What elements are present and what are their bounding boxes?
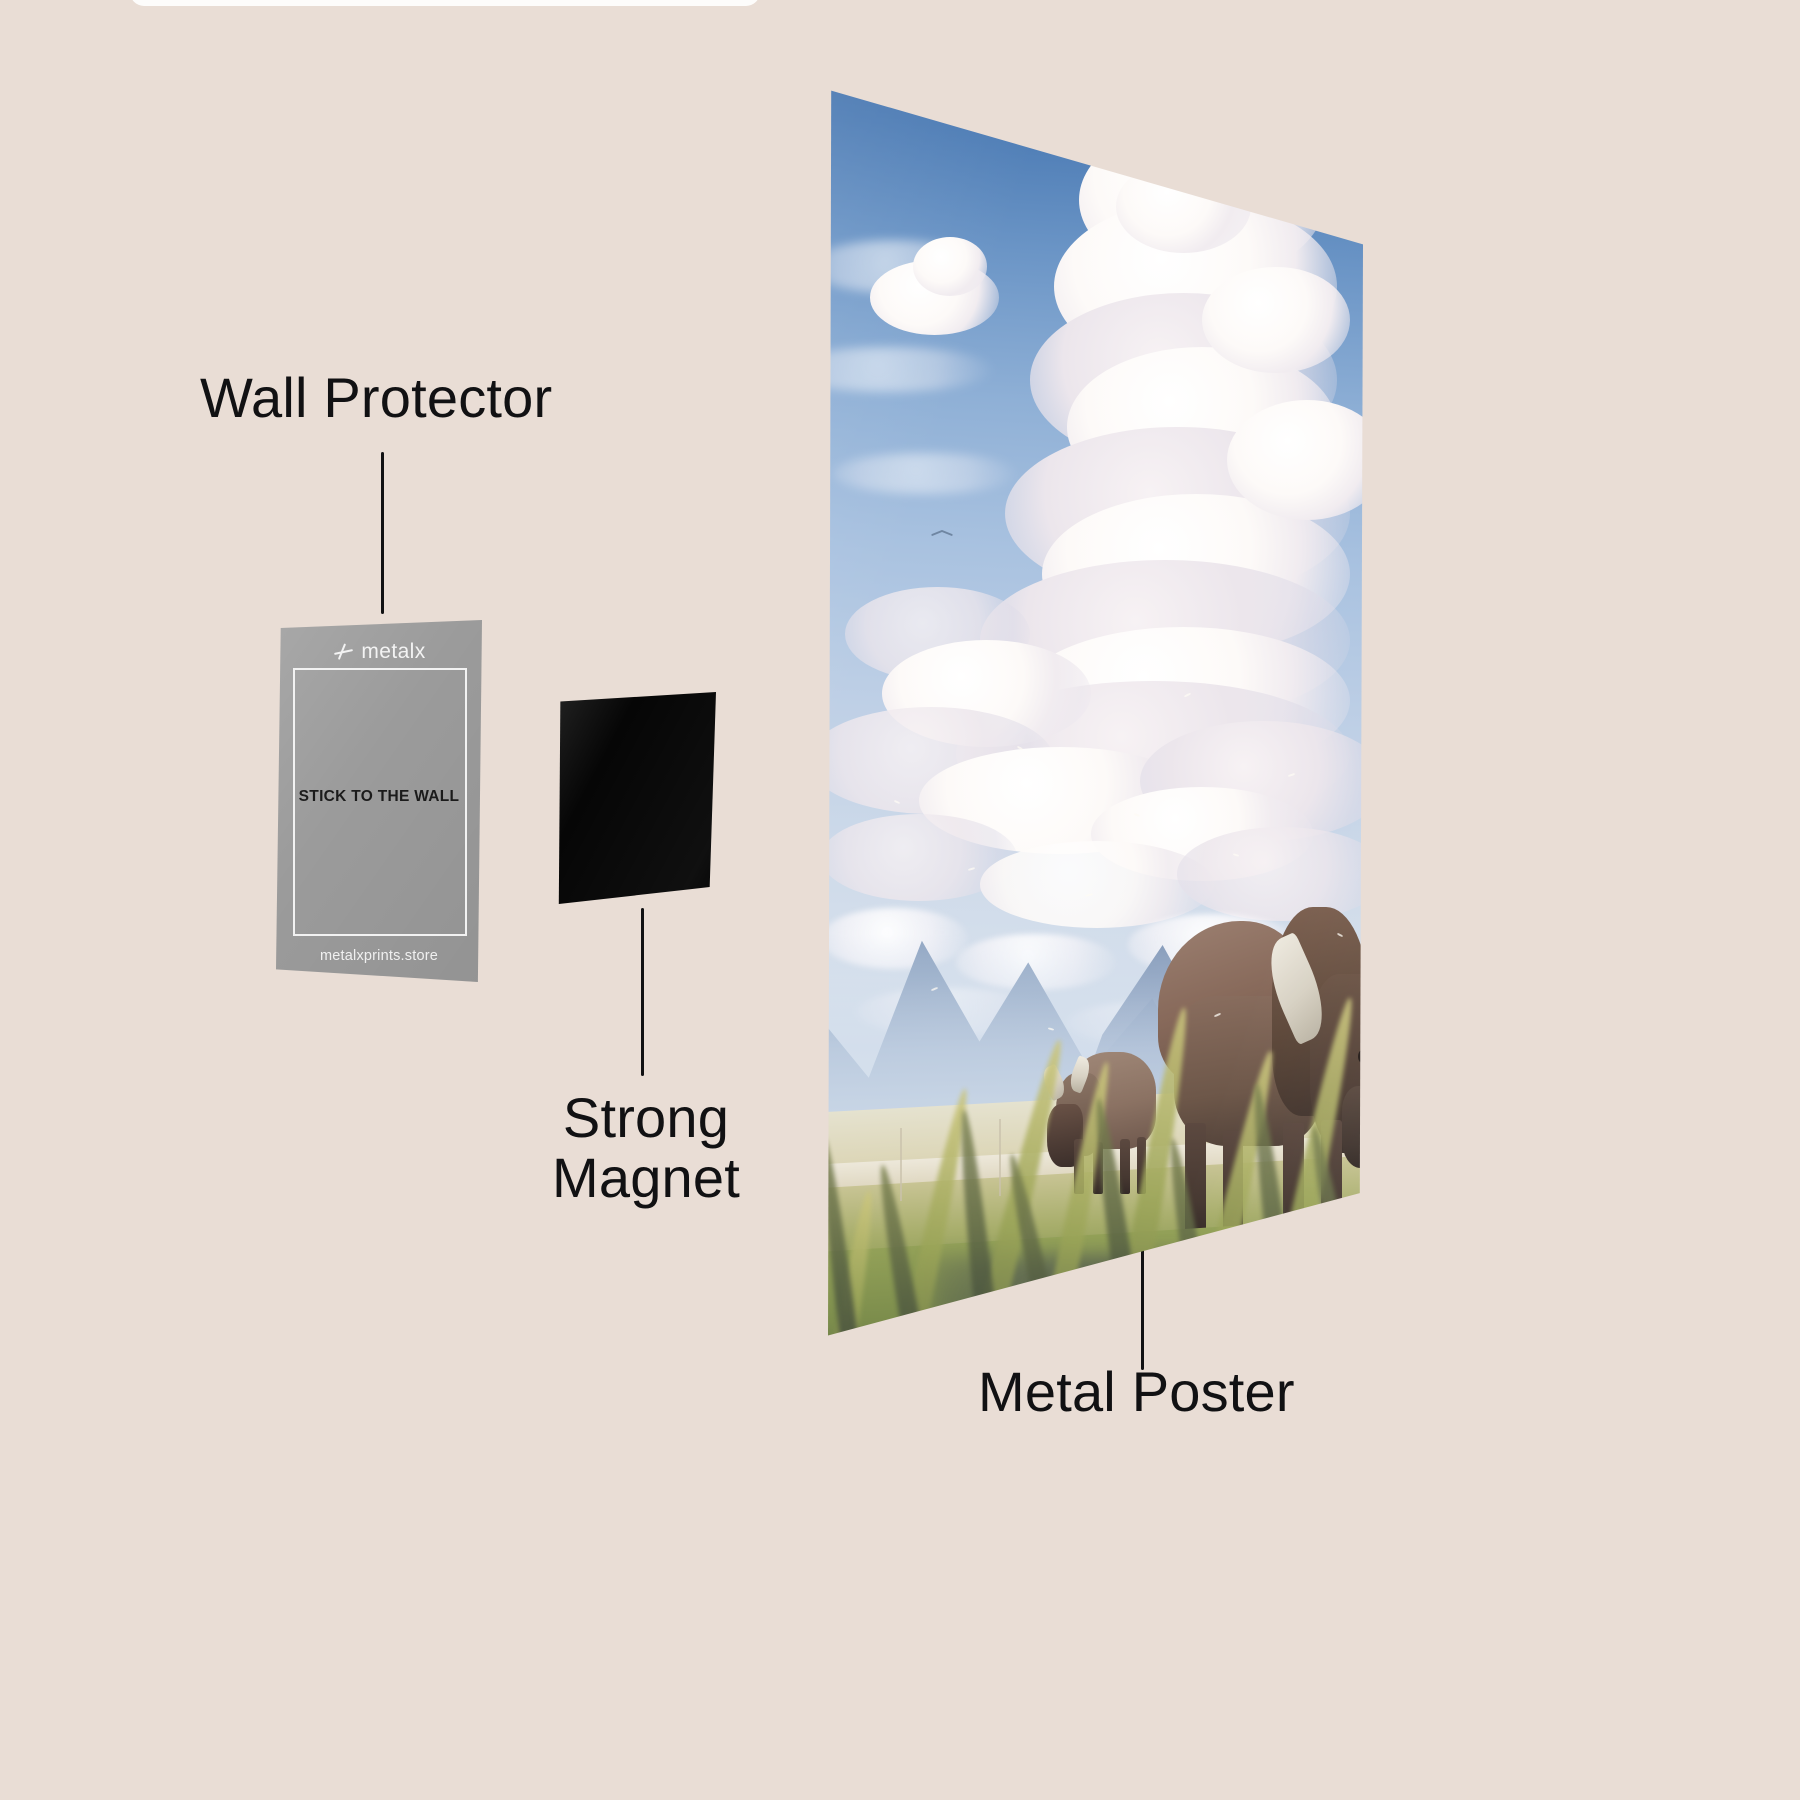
leader-line-strong-magnet — [641, 908, 644, 1076]
callout-label-metal-poster: Metal Poster — [978, 1362, 1295, 1422]
bird-icon — [931, 527, 953, 539]
cloud-tower — [1116, 160, 1251, 253]
metal-poster-artwork[interactable] — [828, 78, 1363, 1338]
fence-post — [999, 1119, 1001, 1196]
fence-post — [900, 1128, 902, 1201]
metalx-cross-icon — [332, 642, 354, 662]
callout-label-strong-magnet: Strong Magnet — [548, 1088, 744, 1209]
bison-eye — [1358, 1049, 1363, 1065]
wall-protector-card[interactable]: metalx STICK TO THE WALL metalxprints.st… — [276, 620, 482, 982]
leader-line-metal-poster — [1141, 1242, 1144, 1370]
callout-label-wall-protector: Wall Protector — [200, 368, 552, 428]
leader-line-wall-protector — [381, 452, 384, 614]
wall-protector-headline: STICK TO THE WALL — [276, 788, 482, 806]
infographic-canvas: Wall Protector metalx STICK TO THE WALL … — [0, 0, 1800, 1800]
cloud-tower — [1202, 267, 1350, 374]
wall-protector-url: metalxprints.store — [276, 948, 482, 964]
metalx-logo: metalx — [276, 640, 482, 664]
poster-artwork-scene — [828, 78, 1363, 1338]
metalx-wordmark: metalx — [361, 640, 425, 664]
magnet-highlight — [558, 692, 716, 904]
cloud-small — [913, 237, 987, 296]
strong-magnet-tile[interactable] — [558, 692, 716, 904]
top-white-sliver — [130, 0, 760, 6]
cloud-wisp — [833, 453, 1018, 493]
